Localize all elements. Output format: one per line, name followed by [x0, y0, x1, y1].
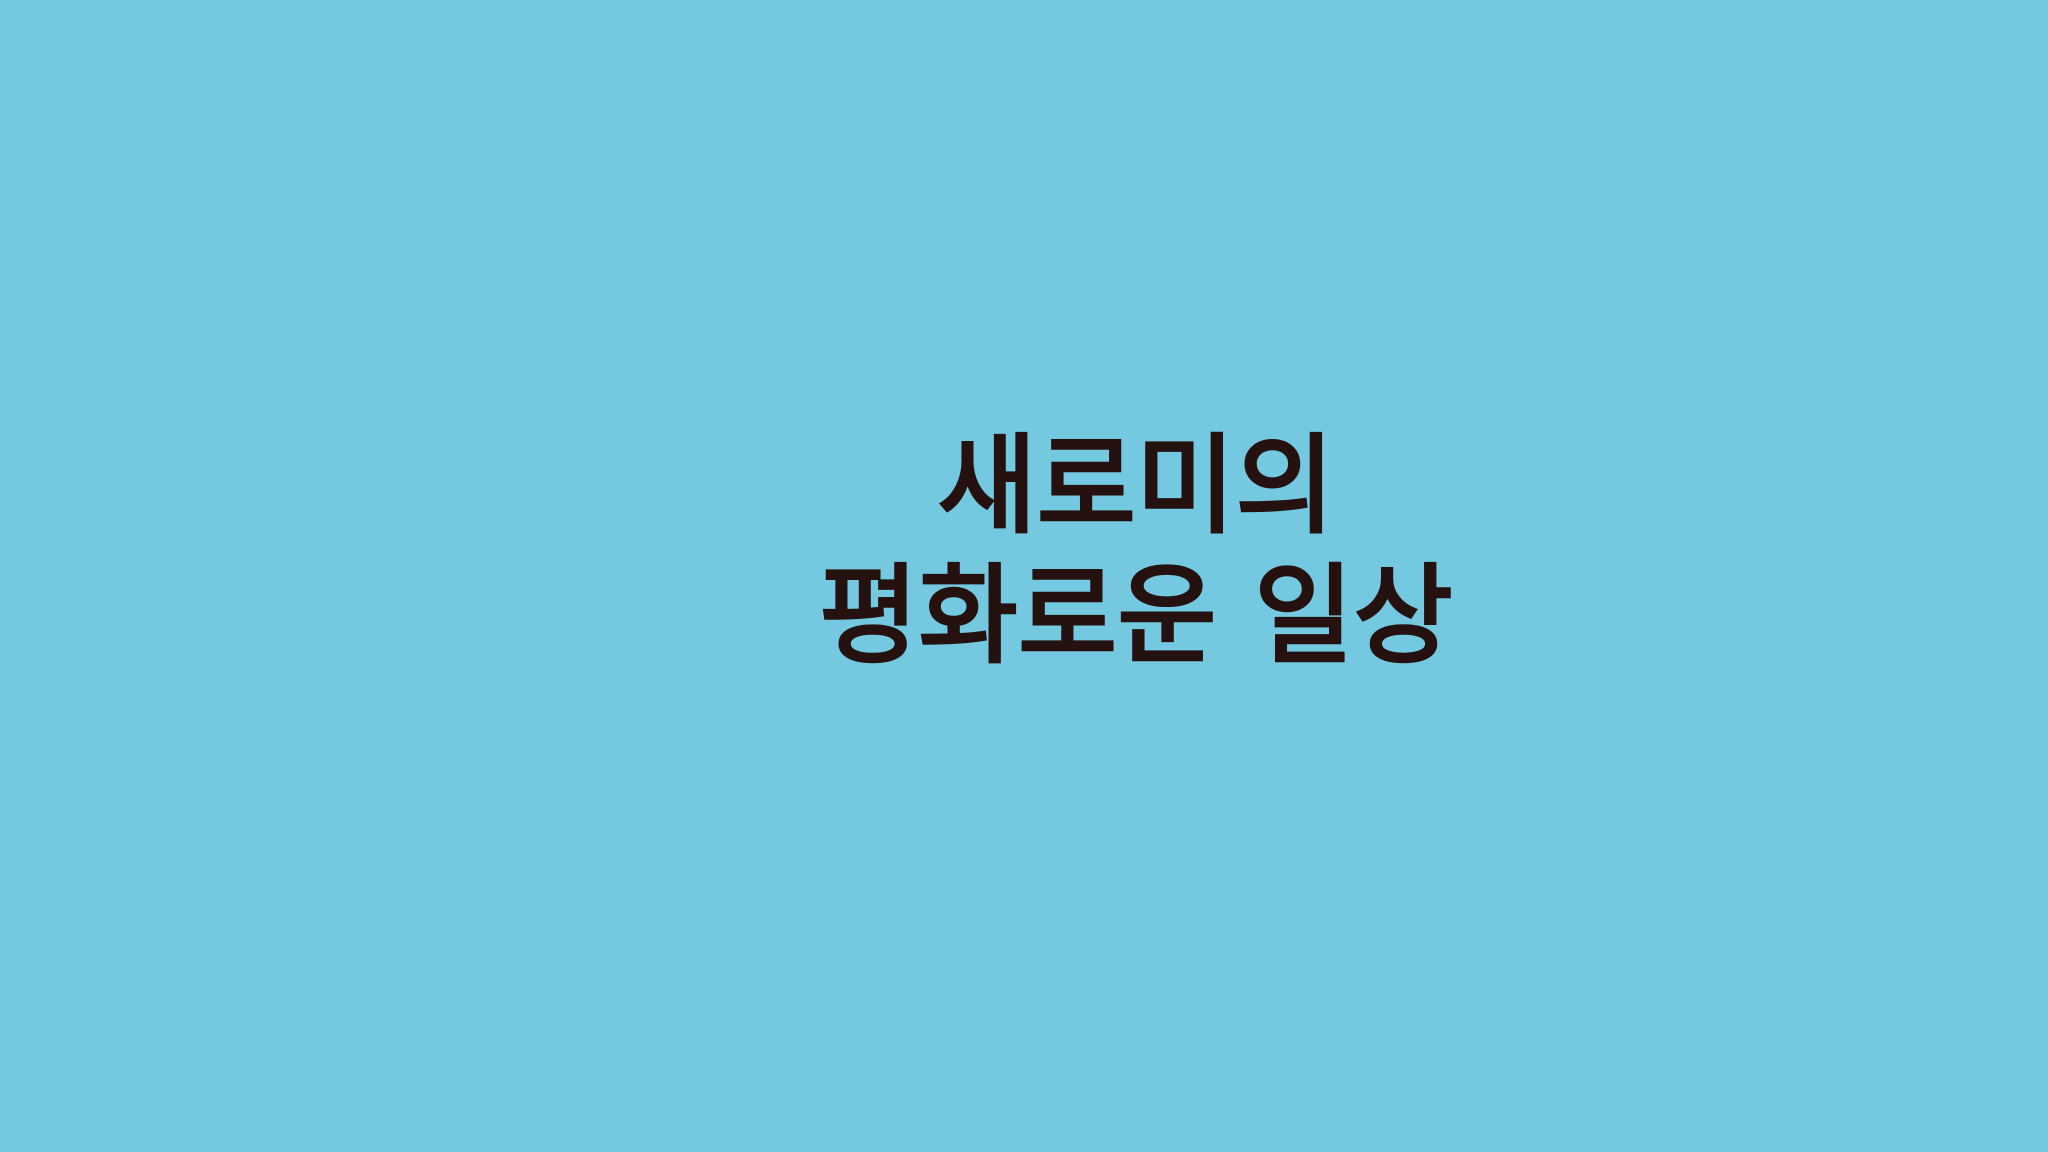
title-line-1: 새로미의 [760, 422, 1512, 552]
title-block: 새로미의 평화로운 일상 [760, 422, 1512, 682]
slide-canvas: 새로미의 평화로운 일상 [0, 0, 2048, 1152]
title-line-2: 평화로운 일상 [760, 552, 1512, 682]
